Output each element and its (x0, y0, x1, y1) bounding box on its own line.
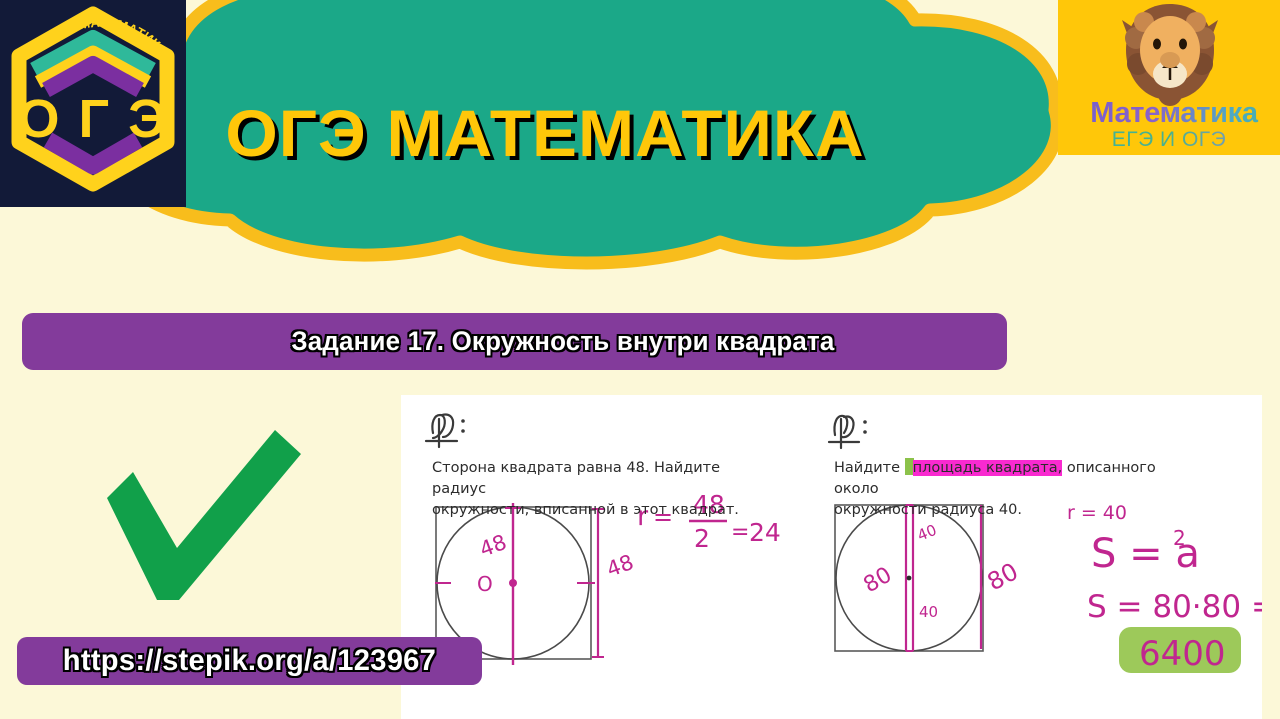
lion-card-subtitle: ЕГЭ И ОГЭ (1058, 128, 1280, 152)
lion-card-title: Математика (1058, 97, 1280, 130)
left-solution-eq2: = (731, 520, 749, 545)
check-icon (95, 420, 310, 625)
left-diagram-diameter-label: 48 (477, 530, 510, 562)
left-problem-line1: Сторона квадрата равна 48. Найдите радиу… (432, 460, 720, 497)
url-text: https://stepik.org/a/123967 (63, 644, 436, 678)
right-solution-answer: 6400 (1139, 634, 1226, 674)
right-diagram-lower-half-label: 40 (919, 603, 938, 621)
left-problem-line2: окружности, вписанной в этот квадрат. (432, 502, 739, 518)
right-label-colon-dot2 (863, 430, 867, 434)
left-diagram-side-label: 48 (604, 550, 637, 582)
left-solution-result: 24 (749, 518, 781, 547)
right-example-label (829, 416, 859, 448)
right-problem-pre: Найдите (834, 460, 905, 476)
right-label-colon-dot1 (863, 420, 867, 424)
right-diagram: 80 40 40 80 (835, 505, 1023, 651)
right-solution-computation: S = 80·80 = (1087, 589, 1262, 625)
url-banner[interactable]: https://stepik.org/a/123967 (17, 637, 482, 685)
task-banner-text: Задание 17. Окружность внутри квадрата (195, 326, 834, 357)
right-diagram-upper-half-label: 40 (915, 521, 939, 545)
right-problem-statement: Найдите площадь квадрата, описанного око… (834, 458, 1194, 521)
oge-badge-letters: О Г Э (17, 89, 168, 149)
right-problem-line2: окружности радиуса 40. (834, 502, 1022, 518)
left-diagram-center-label: O (477, 572, 493, 596)
left-label-colon-dot2 (461, 429, 465, 433)
left-label-colon-dot1 (461, 419, 465, 423)
right-diagram-right-label: 80 (983, 557, 1023, 596)
right-solution-formula-exponent: 2 (1173, 526, 1186, 550)
oge-logo-badge: О Г Э МАТЕМАТИКА (0, 0, 186, 207)
task-banner: Задание 17. Окружность внутри квадрата (22, 313, 1007, 370)
left-problem-statement: Сторона квадрата равна 48. Найдите радиу… (432, 458, 772, 521)
right-diagram-left-label: 80 (860, 563, 897, 599)
whiteboard-panel: 48 O 48 r = 48 2 = 24 (401, 395, 1262, 719)
left-example-label (426, 414, 457, 447)
right-solution: r = 40 S = a 2 S = 80·80 = 6400 (1067, 502, 1262, 674)
lion-icon (1114, 2, 1226, 106)
lion-brand-card: Математика ЕГЭ И ОГЭ (1058, 0, 1280, 155)
right-problem-highlight: площадь квадрата, (913, 460, 1063, 476)
left-solution-denominator: 2 (694, 524, 710, 553)
